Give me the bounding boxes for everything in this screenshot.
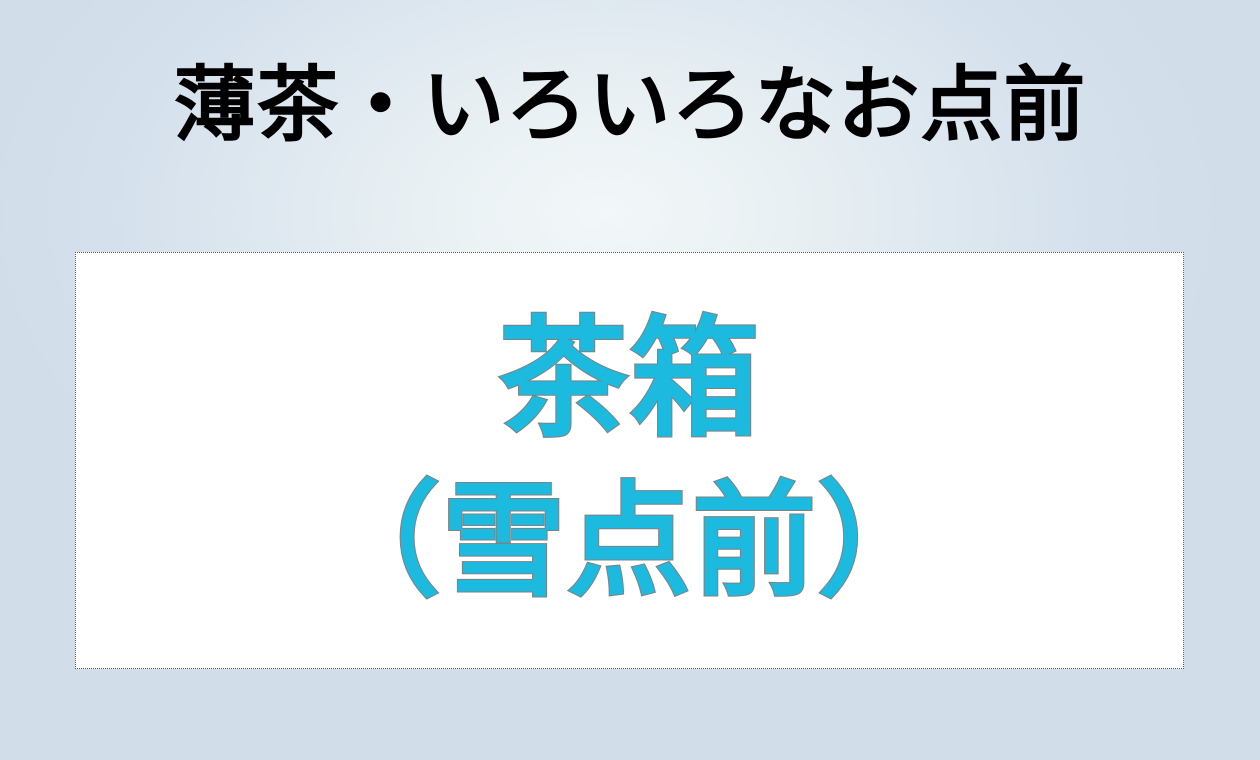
slide-canvas: 薄茶・いろいろなお点前 茶箱 （雪点前） bbox=[0, 0, 1260, 760]
content-line-secondary: （雪点前） bbox=[76, 480, 1183, 604]
content-line-primary: 茶箱 bbox=[76, 314, 1183, 444]
page-title: 薄茶・いろいろなお点前 bbox=[174, 62, 1087, 151]
slide-title-block: 薄茶・いろいろなお点前 bbox=[0, 62, 1260, 151]
content-text-group: 茶箱 （雪点前） bbox=[76, 314, 1183, 608]
content-placeholder-box[interactable]: 茶箱 （雪点前） bbox=[75, 252, 1184, 669]
